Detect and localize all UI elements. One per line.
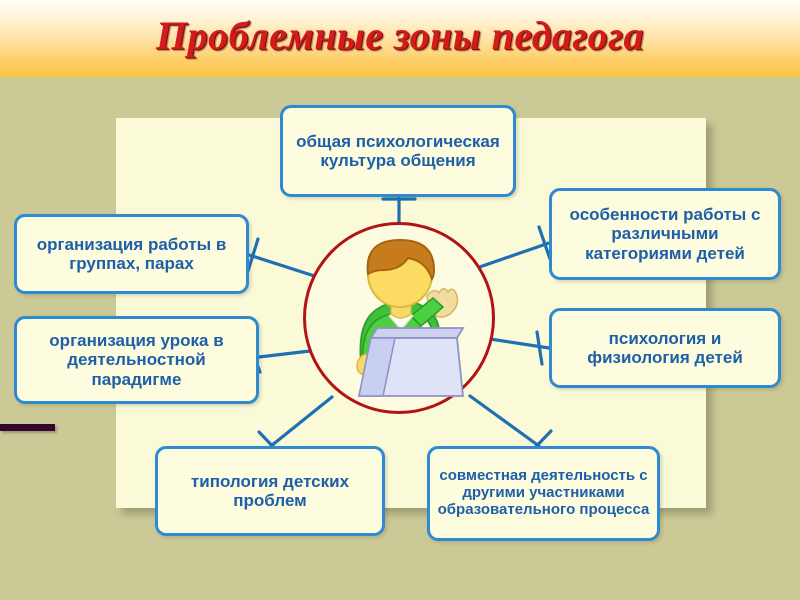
- node-right-upper-label: особенности работы с различными категори…: [558, 205, 772, 263]
- node-bottom-right[interactable]: совместная деятельность с другими участн…: [427, 446, 660, 541]
- node-right-lower[interactable]: психология и физиология детей: [549, 308, 781, 388]
- teacher-at-podium-icon: [303, 222, 495, 414]
- node-bottom-right-label: совместная деятельность с другими участн…: [436, 468, 651, 519]
- node-bottom-left[interactable]: типология детских проблем: [155, 446, 385, 536]
- node-right-lower-label: психология и физиология детей: [558, 329, 772, 367]
- node-top-label: общая психологическая культура общения: [289, 132, 507, 170]
- node-left-upper[interactable]: организация работы в группах, парах: [14, 214, 249, 294]
- node-left-lower-label: организация урока в деятельностной парад…: [23, 331, 250, 389]
- node-top[interactable]: общая психологическая культура общения: [280, 105, 516, 197]
- slide-canvas: Проблемные зоны педагога: [0, 0, 800, 600]
- node-left-lower[interactable]: организация урока в деятельностной парад…: [14, 316, 259, 404]
- node-left-upper-label: организация работы в группах, парах: [23, 235, 240, 273]
- node-bottom-left-label: типология детских проблем: [164, 472, 376, 510]
- node-right-upper[interactable]: особенности работы с различными категори…: [549, 188, 781, 280]
